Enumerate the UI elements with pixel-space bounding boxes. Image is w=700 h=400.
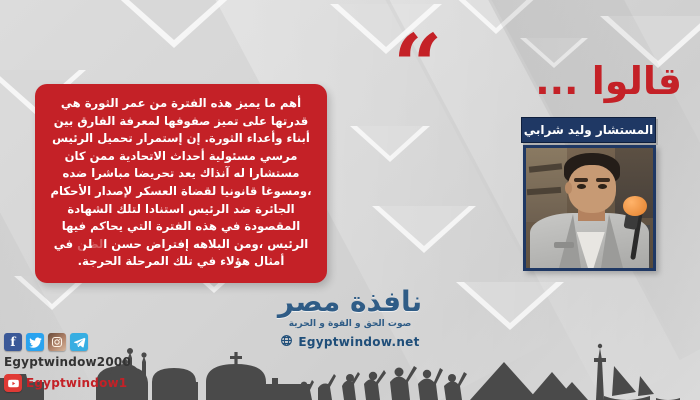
youtube-row: Egyptwindow1 (4, 374, 131, 392)
telegram-icon[interactable] (70, 333, 88, 351)
speaker-portrait-frame (523, 145, 656, 271)
social-handle-primary[interactable]: Egyptwindow2000 (4, 355, 131, 369)
social-handle-youtube[interactable]: Egyptwindow1 (26, 376, 127, 390)
facebook-glyph: f (10, 336, 15, 348)
social-block: f Egyptwindow2000 (4, 333, 131, 392)
speaker-name-badge: المستشار وليد شرابي (521, 117, 656, 143)
speaker-portrait (526, 148, 653, 268)
instagram-icon[interactable] (48, 333, 66, 351)
brand-slogan: صوت الحق و القوة و الحرية (0, 320, 700, 329)
brand-website-url[interactable]: Egyptwindow.net (298, 335, 419, 349)
quote-mark-close: “ (66, 231, 115, 293)
twitter-icon[interactable] (26, 333, 44, 351)
social-icon-row: f (4, 333, 131, 351)
facebook-icon[interactable]: f (4, 333, 22, 351)
globe-icon (280, 332, 293, 351)
youtube-icon[interactable] (4, 374, 22, 392)
page-title: قالوا ... (535, 62, 682, 100)
quote-card: “ قالوا ... المستشار وليد شرابي (0, 0, 700, 400)
quote-mark-open: “ (393, 36, 442, 98)
